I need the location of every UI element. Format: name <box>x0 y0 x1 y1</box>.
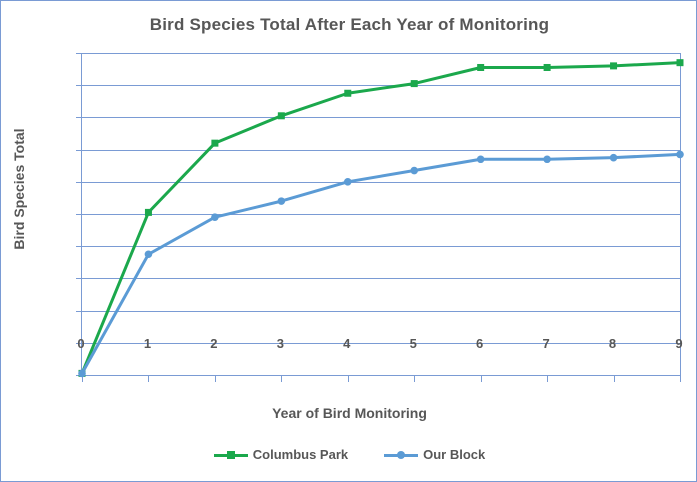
data-point-marker <box>411 80 418 87</box>
x-axis-title: Year of Bird Monitoring <box>1 405 697 421</box>
data-point-marker <box>211 140 218 147</box>
x-tick-mark <box>414 376 415 382</box>
legend-swatch <box>384 449 418 461</box>
data-point-marker <box>344 178 352 186</box>
x-tick-mark <box>148 376 149 382</box>
bird-species-line-chart: Bird Species Total After Each Year of Mo… <box>0 0 697 482</box>
legend-marker-icon <box>227 451 235 459</box>
chart-legend: Columbus ParkOur Block <box>1 447 697 462</box>
legend-swatch <box>214 449 248 461</box>
x-tick-label: 1 <box>127 336 167 351</box>
chart-title: Bird Species Total After Each Year of Mo… <box>1 15 697 35</box>
x-tick-mark <box>481 376 482 382</box>
x-tick-label: 9 <box>659 336 697 351</box>
data-point-marker <box>145 209 152 216</box>
legend-entry[interactable]: Columbus Park <box>214 447 348 462</box>
plot-area <box>81 53 681 376</box>
x-tick-label: 5 <box>393 336 433 351</box>
data-point-marker <box>211 213 219 221</box>
legend-label: Our Block <box>423 447 485 462</box>
x-tick-mark <box>614 376 615 382</box>
series-line <box>82 63 680 374</box>
x-tick-label: 0 <box>61 336 101 351</box>
data-point-marker <box>610 154 618 162</box>
x-tick-label: 6 <box>460 336 500 351</box>
data-point-marker <box>543 155 551 163</box>
x-tick-label: 4 <box>327 336 367 351</box>
x-tick-mark <box>281 376 282 382</box>
legend-marker-icon <box>397 451 405 459</box>
data-point-marker <box>477 155 485 163</box>
x-tick-label: 2 <box>194 336 234 351</box>
x-tick-mark <box>680 376 681 382</box>
x-tick-label: 3 <box>260 336 300 351</box>
data-point-marker <box>610 62 617 69</box>
x-tick-label: 8 <box>593 336 633 351</box>
y-axis-title: Bird Species Total <box>11 89 27 289</box>
data-point-marker <box>78 370 86 378</box>
data-point-marker <box>344 90 351 97</box>
data-point-marker <box>677 59 684 66</box>
x-tick-mark <box>215 376 216 382</box>
data-point-marker <box>410 167 418 175</box>
x-tick-mark <box>348 376 349 382</box>
legend-label: Columbus Park <box>253 447 348 462</box>
legend-entry[interactable]: Our Block <box>384 447 485 462</box>
data-point-marker <box>544 64 551 71</box>
data-point-marker <box>145 250 153 258</box>
series-layer <box>82 53 680 375</box>
data-point-marker <box>278 197 286 205</box>
data-point-marker <box>676 151 684 159</box>
x-tick-mark <box>547 376 548 382</box>
x-tick-label: 7 <box>526 336 566 351</box>
data-point-marker <box>477 64 484 71</box>
gridline <box>82 375 680 376</box>
data-point-marker <box>278 112 285 119</box>
